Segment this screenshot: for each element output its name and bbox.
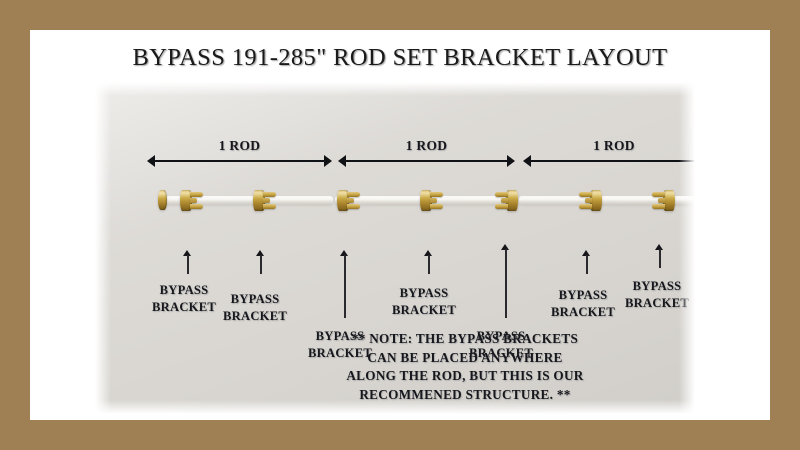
bypass-bracket-6 [579, 188, 602, 213]
bypass-bracket-2 [253, 188, 276, 213]
bypass-bracket-label-2: BYPASSBRACKET [223, 291, 287, 324]
rod-span-label: 1 ROD [523, 138, 705, 154]
pointer-arrow-up-icon-4 [424, 250, 433, 274]
diagram-photo-panel: 1 ROD1 ROD1 ROD BYPASSBRACKETBYPASSBRACK… [95, 82, 695, 414]
bracket-fork-prong [347, 198, 354, 203]
bracket-fork-prong [430, 198, 437, 203]
bracket-fork-prong [263, 198, 270, 203]
bracket-fork-prong [652, 192, 665, 197]
label-line-2: BRACKET [223, 308, 287, 325]
rod-end-cap-left [158, 190, 167, 210]
note-line-3: ALONG THE ROD, BUT THIS IS OUR [95, 367, 770, 386]
arrow-head-right-icon [697, 155, 705, 167]
arrow-stem [505, 249, 507, 318]
arrow-head-right-icon [507, 155, 515, 167]
label-line-2: BRACKET [152, 299, 216, 316]
label-line-2: BRACKET [551, 304, 615, 321]
bracket-fork [430, 192, 443, 209]
bracket-fork-prong [495, 204, 508, 209]
rod-end-cap-right [698, 190, 707, 210]
arrow-stem [260, 255, 262, 274]
label-line-1: BYPASS [223, 291, 287, 308]
arrow-head-left-icon [147, 155, 155, 167]
pointer-arrow-up-icon-5 [501, 244, 510, 318]
bracket-fork [579, 192, 592, 209]
arrow-head-right-icon [324, 155, 332, 167]
arrow-head-left-icon [338, 155, 346, 167]
page-title: BYPASS 191-285" ROD SET BRACKET LAYOUT [30, 44, 770, 72]
rod-span-label: 1 ROD [338, 138, 515, 154]
slide-canvas: BYPASS 191-285" ROD SET BRACKET LAYOUT 1… [0, 0, 800, 450]
bracket-fork-prong [263, 204, 276, 209]
slide-content-area: BYPASS 191-285" ROD SET BRACKET LAYOUT 1… [30, 30, 770, 420]
arrow-stem [187, 255, 189, 274]
pointer-arrow-up-icon-1 [183, 250, 192, 274]
pointer-arrow-up-icon-7 [655, 244, 664, 268]
rod-span-line [152, 160, 327, 162]
rod-span-label: 1 ROD [147, 138, 332, 154]
note-line-4: RECOMMENED STRUCTURE. ** [95, 386, 770, 405]
bypass-bracket-1 [180, 188, 203, 213]
pointer-arrow-up-icon-2 [256, 250, 265, 274]
arrow-stem [428, 255, 430, 274]
bracket-fork-prong [263, 192, 276, 197]
note-block: ** NOTE: THE BYPASS BRACKETS CAN BE PLAC… [95, 330, 770, 405]
bracket-fork-prong [579, 192, 592, 197]
bypass-bracket-label-6: BYPASSBRACKET [551, 287, 615, 320]
label-line-1: BYPASS [551, 287, 615, 304]
bracket-fork-prong [495, 192, 508, 197]
rod-span-line [343, 160, 510, 162]
bracket-fork-prong [347, 204, 360, 209]
bracket-fork-prong [190, 198, 197, 203]
bypass-bracket-label-7: BYPASSBRACKET [625, 278, 689, 311]
bracket-fork [347, 192, 360, 209]
pointer-arrow-up-icon-6 [582, 250, 591, 274]
bracket-fork [190, 192, 203, 209]
bracket-fork-prong [501, 198, 508, 203]
bracket-fork-prong [430, 192, 443, 197]
bracket-fork-prong [347, 192, 360, 197]
bracket-fork [652, 192, 665, 209]
arrow-stem [659, 249, 661, 268]
label-line-2: BRACKET [625, 295, 689, 312]
bypass-bracket-7 [652, 188, 675, 213]
bracket-fork-prong [190, 204, 203, 209]
arrow-stem [344, 255, 346, 318]
arrow-stem [586, 255, 588, 274]
rod-span-measure-3: 1 ROD [523, 138, 705, 168]
bypass-bracket-label-4: BYPASSBRACKET [392, 285, 456, 318]
label-line-2: BRACKET [392, 302, 456, 319]
bracket-fork-prong [579, 204, 592, 209]
pointer-arrow-up-icon-3 [340, 250, 349, 318]
bracket-fork-prong [190, 192, 203, 197]
bracket-fork-prong [585, 198, 592, 203]
label-line-1: BYPASS [152, 282, 216, 299]
rod-span-measure-1: 1 ROD [147, 138, 332, 168]
rod-span-line [528, 160, 700, 162]
bracket-fork-prong [652, 204, 665, 209]
bracket-fork-prong [658, 198, 665, 203]
label-line-1: BYPASS [392, 285, 456, 302]
rod-span-measure-2: 1 ROD [338, 138, 515, 168]
bracket-fork [263, 192, 276, 209]
bypass-bracket-3 [337, 188, 360, 213]
note-line-1: ** NOTE: THE BYPASS BRACKETS [95, 330, 770, 349]
bypass-bracket-4 [420, 188, 443, 213]
bypass-bracket-label-1: BYPASSBRACKET [152, 282, 216, 315]
bypass-bracket-5 [495, 188, 518, 213]
bracket-fork [495, 192, 508, 209]
curtain-rod-segment-3 [519, 196, 705, 205]
label-line-1: BYPASS [625, 278, 689, 295]
note-line-2: CAN BE PLACED ANYWHERE [95, 349, 770, 368]
bracket-fork-prong [430, 204, 443, 209]
arrow-head-left-icon [523, 155, 531, 167]
